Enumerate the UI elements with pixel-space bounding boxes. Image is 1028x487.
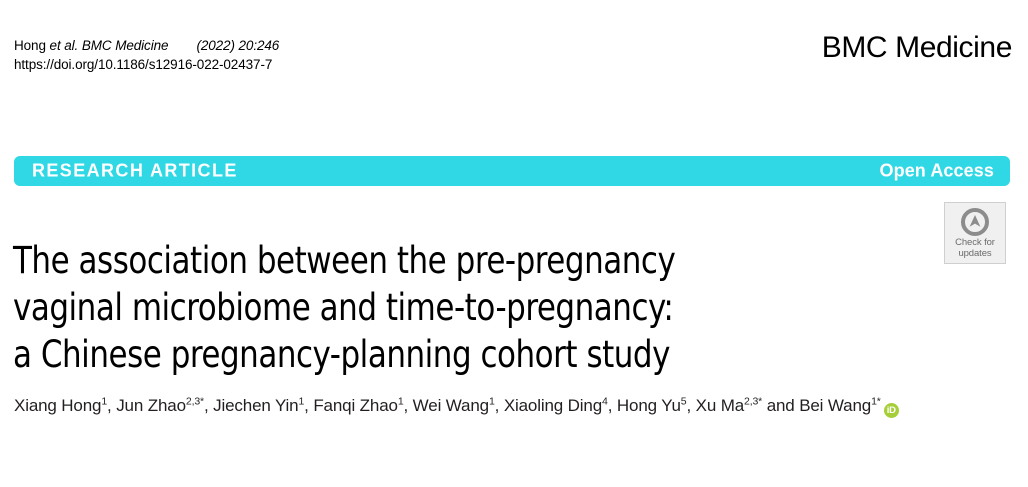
- running-head-volume-issue: (2022) 20:246: [196, 38, 279, 53]
- open-access-banner: RESEARCH ARTICLE Open Access: [14, 156, 1010, 186]
- author-affiliation-marker[interactable]: 1*: [871, 395, 881, 407]
- author-separator: ,: [304, 396, 313, 415]
- crossmark-line-1: Check for: [955, 237, 995, 248]
- crossmark-line-2: updates: [955, 248, 995, 259]
- article-title-line-2: vaginal microbiome and time-to-pregnancy…: [13, 284, 869, 331]
- journal-title: BMC Medicine: [822, 30, 1012, 66]
- author-name[interactable]: Xiaoling Ding: [504, 396, 602, 415]
- author-separator: ,: [608, 396, 617, 415]
- running-head-citation: Hong et al. BMC Medicine(2022) 20:246: [14, 36, 279, 55]
- author-separator: ,: [107, 396, 116, 415]
- author-name[interactable]: Xiang Hong: [14, 396, 101, 415]
- author-separator: ,: [686, 396, 695, 415]
- orcid-id-icon[interactable]: iD: [884, 403, 899, 418]
- author-name[interactable]: Jiechen Yin: [213, 396, 298, 415]
- article-title-line-3: a Chinese pregnancy-planning cohort stud…: [13, 331, 869, 378]
- article-title: The association between the pre-pregnanc…: [13, 237, 869, 378]
- author-separator: ,: [495, 396, 504, 415]
- crossmark-logo-icon: [961, 208, 989, 236]
- check-for-updates-badge[interactable]: Check for updates: [944, 202, 1006, 264]
- author-separator: and: [762, 396, 799, 415]
- author-name[interactable]: Fanqi Zhao: [313, 396, 398, 415]
- author-separator: ,: [204, 396, 213, 415]
- running-head-author: Hong: [14, 38, 50, 53]
- author-affiliation-marker[interactable]: 2,3*: [744, 395, 762, 407]
- open-access-label[interactable]: Open Access: [880, 161, 995, 182]
- article-type-label: RESEARCH ARTICLE: [32, 161, 238, 182]
- author-separator: ,: [404, 396, 413, 415]
- author-name[interactable]: Xu Ma: [696, 396, 744, 415]
- article-title-line-1: The association between the pre-pregnanc…: [13, 237, 869, 284]
- author-name[interactable]: Bei Wang: [799, 396, 871, 415]
- author-list: Xiang Hong1, Jun Zhao2,3*, Jiechen Yin1,…: [14, 392, 974, 419]
- running-head-journal-italic: et al. BMC Medicine: [50, 38, 169, 53]
- author-affiliation-marker[interactable]: 2,3*: [186, 395, 204, 407]
- author-name[interactable]: Jun Zhao: [116, 396, 186, 415]
- doi-link[interactable]: https://doi.org/10.1186/s12916-022-02437…: [14, 55, 272, 74]
- author-name[interactable]: Wei Wang: [413, 396, 489, 415]
- author-name[interactable]: Hong Yu: [617, 396, 681, 415]
- check-for-updates-text: Check for updates: [955, 237, 995, 259]
